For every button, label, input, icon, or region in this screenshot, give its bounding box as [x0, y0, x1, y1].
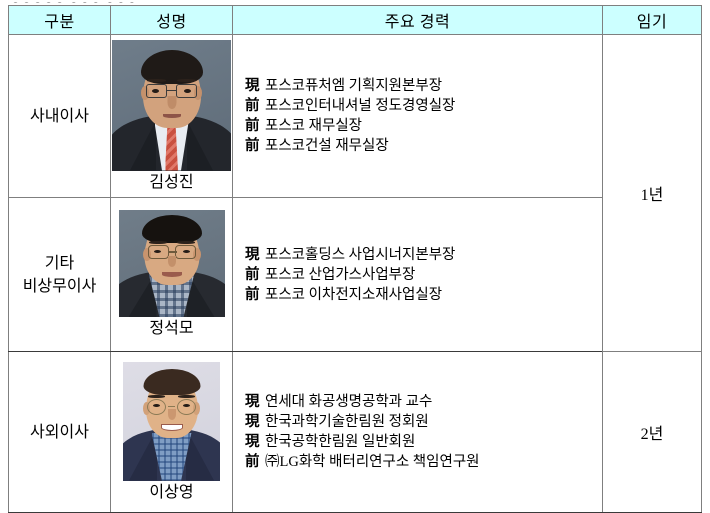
- cell-division: 사내이사: [9, 35, 111, 198]
- table-row: 사외이사: [9, 352, 702, 513]
- person-name: 김성진: [149, 173, 193, 193]
- career-marker: 現: [245, 412, 261, 432]
- career-item: 現포스코퓨처엠 기획지원본부장: [245, 76, 602, 96]
- career-marker: 現: [245, 76, 261, 96]
- portrait-photo: [123, 362, 220, 481]
- career-text: 한국공학한림원 일반회원: [265, 434, 415, 450]
- person-name: 정석모: [149, 319, 193, 339]
- column-header-division: 구분: [9, 6, 111, 35]
- table-row: 사내이사: [9, 35, 702, 198]
- cell-name: 이상영: [111, 352, 233, 513]
- career-text: 포스코홀딩스 사업시너지본부장: [265, 247, 455, 263]
- career-item: 前포스코인터내셔널 정도경영실장: [245, 96, 602, 116]
- career-item: 前포스코 재무실장: [245, 116, 602, 136]
- division-label: 사외이사: [30, 424, 89, 441]
- cell-name: 정석모: [111, 198, 233, 352]
- career-text: 연세대 화공생명공학과 교수: [265, 394, 432, 410]
- career-item: 現포스코홀딩스 사업시너지본부장: [245, 245, 602, 265]
- table-header-row: 구분 성명 주요 경력 임기: [9, 6, 702, 35]
- portrait-photo: [112, 40, 231, 171]
- career-marker: 前: [245, 265, 261, 285]
- division-label: 기타: [45, 255, 74, 272]
- career-item: 現한국공학한림원 일반회원: [245, 432, 602, 452]
- career-item: 現연세대 화공생명공학과 교수: [245, 392, 602, 412]
- cell-term: 2년: [603, 352, 702, 513]
- career-marker: 前: [245, 285, 261, 305]
- career-text: 포스코 이차전지소재사업실장: [265, 287, 442, 303]
- career-item: 前포스코 이차전지소재사업실장: [245, 285, 602, 305]
- cell-name: 김성진: [111, 35, 233, 198]
- term-label: 1년: [641, 187, 664, 204]
- cell-career: 現연세대 화공생명공학과 교수 現한국과학기술한림원 정회원 現한국공학한림원 …: [233, 352, 603, 513]
- term-label: 2년: [641, 426, 664, 443]
- cell-division: 사외이사: [9, 352, 111, 513]
- career-marker: 前: [245, 96, 261, 116]
- division-label-line2: 비상무이사: [9, 275, 110, 298]
- cell-division: 기타 비상무이사: [9, 198, 111, 352]
- career-marker: 前: [245, 452, 261, 472]
- career-item: 前포스코건설 재무실장: [245, 136, 602, 156]
- table-row: 기타 비상무이사: [9, 198, 702, 352]
- person-name: 이상영: [149, 483, 193, 503]
- cut-off-text-above-table: ㅇㅇㅇㅇㅇ ㅇㅇㅇ ㅇㅇㅇ: [10, 0, 270, 3]
- division-label: 사내이사: [30, 108, 89, 125]
- column-header-name: 성명: [111, 6, 233, 35]
- career-marker: 現: [245, 245, 261, 265]
- board-of-directors-table: 구분 성명 주요 경력 임기 사내이사: [8, 5, 702, 513]
- career-marker: 現: [245, 432, 261, 452]
- career-item: 現한국과학기술한림원 정회원: [245, 412, 602, 432]
- board-of-directors-table-wrap: 구분 성명 주요 경력 임기 사내이사: [8, 5, 701, 513]
- column-header-term: 임기: [603, 6, 702, 35]
- portrait-photo: [119, 210, 225, 317]
- career-text: 포스코인터내셔널 정도경영실장: [265, 98, 455, 114]
- career-text: 한국과학기술한림원 정회원: [265, 414, 429, 430]
- career-text: 포스코건설 재무실장: [265, 138, 389, 154]
- career-item: 前㈜LG화학 배터리연구소 책임연구원: [245, 452, 602, 472]
- cell-term: 1년: [603, 35, 702, 352]
- column-header-career: 주요 경력: [233, 6, 603, 35]
- cell-career: 現포스코홀딩스 사업시너지본부장 前포스코 산업가스사업부장 前포스코 이차전지…: [233, 198, 603, 352]
- career-text: ㈜LG화학 배터리연구소 책임연구원: [265, 454, 480, 470]
- career-marker: 現: [245, 392, 261, 412]
- career-text: 포스코퓨처엠 기획지원본부장: [265, 78, 442, 94]
- career-marker: 前: [245, 136, 261, 156]
- career-marker: 前: [245, 116, 261, 136]
- career-item: 前포스코 산업가스사업부장: [245, 265, 602, 285]
- cell-career: 現포스코퓨처엠 기획지원본부장 前포스코인터내셔널 정도경영실장 前포스코 재무…: [233, 35, 603, 198]
- career-text: 포스코 산업가스사업부장: [265, 267, 415, 283]
- career-text: 포스코 재무실장: [265, 118, 362, 134]
